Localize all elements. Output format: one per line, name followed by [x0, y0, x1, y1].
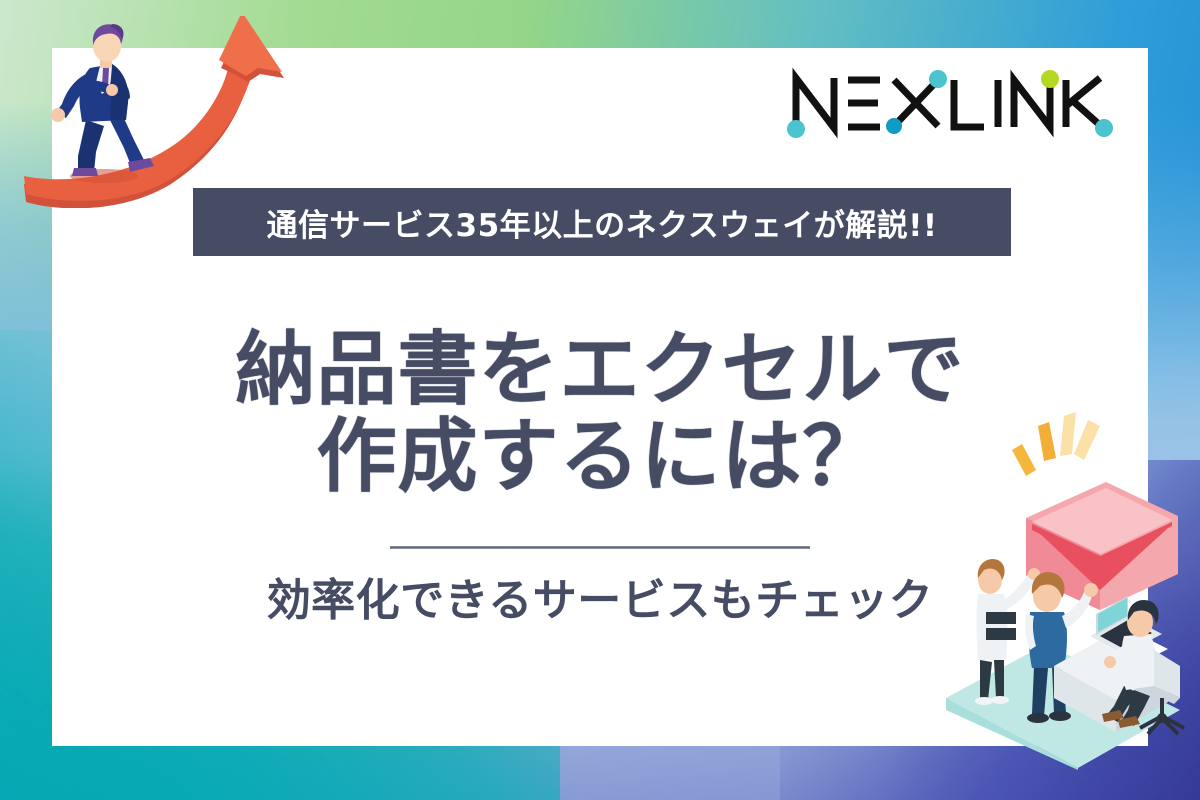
nexlink-logo[interactable] — [786, 64, 1126, 142]
page-title: 納品書をエクセルで 作成するには？ — [0, 326, 1200, 500]
title-divider — [390, 546, 810, 549]
logo-dot-teal-k — [1095, 119, 1113, 137]
logo-dot-blue-x-foot — [886, 118, 902, 134]
logo-dot-teal-n — [787, 120, 805, 138]
logo-dot-green-n — [1041, 70, 1059, 88]
eyebrow-banner-text: 通信サービス35年以上のネクスウェイが解説!! — [267, 200, 938, 245]
businessman-growth-arrow-illustration — [16, 16, 288, 208]
page-title-line-1: 納品書をエクセルで — [0, 326, 1200, 413]
page-subtitle: 効率化できるサービスもチェック — [0, 564, 1200, 628]
eyebrow-banner: 通信サービス35年以上のネクスウェイが解説!! — [193, 188, 1011, 256]
logo-dot-teal-x-top — [929, 70, 947, 88]
page-title-line-2: 作成するには？ — [0, 413, 1200, 500]
poster-canvas: 通信サービス35年以上のネクスウェイが解説!! 納品書をエクセルで 作成するには… — [0, 0, 1200, 800]
